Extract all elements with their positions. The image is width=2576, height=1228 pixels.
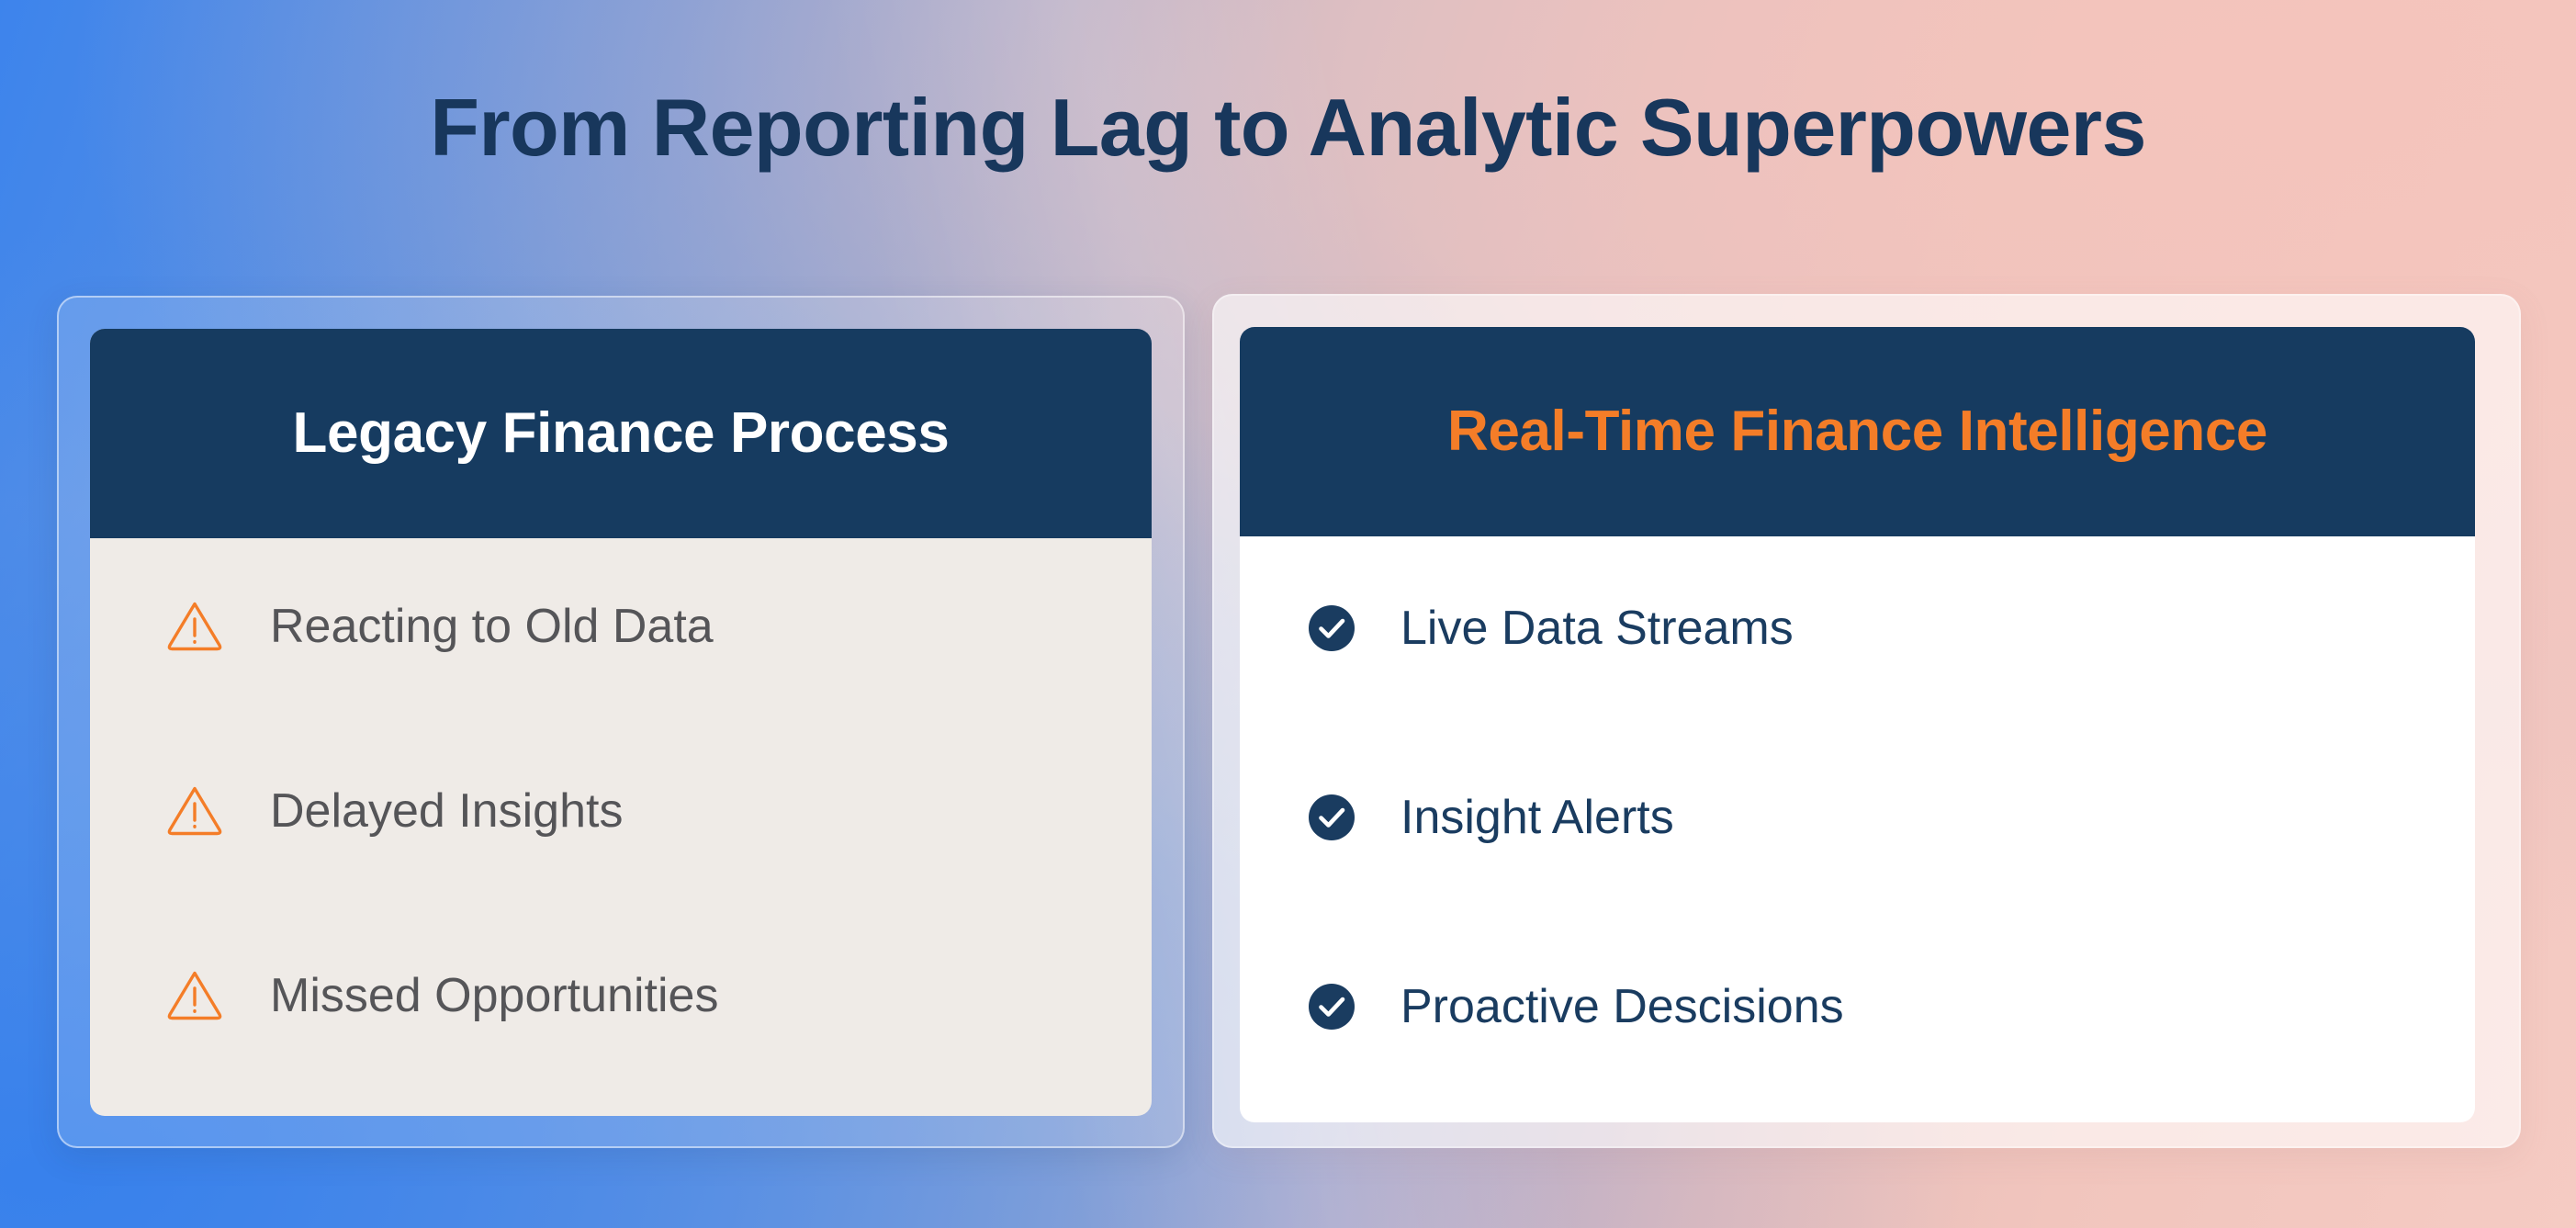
check-circle-icon <box>1309 984 1355 1030</box>
list-item-label: Insight Alerts <box>1400 794 1674 841</box>
check-circle-icon <box>1309 605 1355 651</box>
realtime-card-title: Real-Time Finance Intelligence <box>1447 403 2267 460</box>
list-item-label: Proactive Descisions <box>1400 983 1844 1031</box>
list-item: Live Data Streams <box>1309 584 2475 672</box>
list-item-label: Delayed Insights <box>270 787 623 835</box>
check-circle-icon <box>1309 794 1355 840</box>
legacy-card: Legacy Finance Process Reacting to Old D… <box>90 329 1152 1116</box>
list-item: Delayed Insights <box>165 767 1152 855</box>
list-item: Insight Alerts <box>1309 773 2475 862</box>
legacy-list: Reacting to Old Data Delayed Insights <box>165 582 1152 1040</box>
legacy-card-header: Legacy Finance Process <box>90 329 1152 538</box>
list-item: Proactive Descisions <box>1309 963 2475 1051</box>
warning-triangle-icon <box>165 597 224 656</box>
warning-triangle-icon <box>165 966 224 1025</box>
list-item: Reacting to Old Data <box>165 582 1152 670</box>
realtime-card-header: Real-Time Finance Intelligence <box>1240 327 2475 536</box>
warning-triangle-icon <box>165 782 224 840</box>
list-item: Missed Opportunities <box>165 952 1152 1040</box>
realtime-card: Real-Time Finance Intelligence Live Data… <box>1240 327 2475 1122</box>
legacy-card-body: Reacting to Old Data Delayed Insights <box>90 538 1152 1040</box>
realtime-list: Live Data Streams Insight Alerts <box>1309 584 2475 1051</box>
list-item-label: Reacting to Old Data <box>270 603 714 650</box>
realtime-card-body: Live Data Streams Insight Alerts <box>1240 536 2475 1051</box>
slide-canvas: From Reporting Lag to Analytic Superpowe… <box>0 0 2576 1228</box>
list-item-label: Missed Opportunities <box>270 972 718 1020</box>
legacy-card-title: Legacy Finance Process <box>293 405 950 462</box>
list-item-label: Live Data Streams <box>1400 604 1794 652</box>
page-title: From Reporting Lag to Analytic Superpowe… <box>0 87 2576 168</box>
